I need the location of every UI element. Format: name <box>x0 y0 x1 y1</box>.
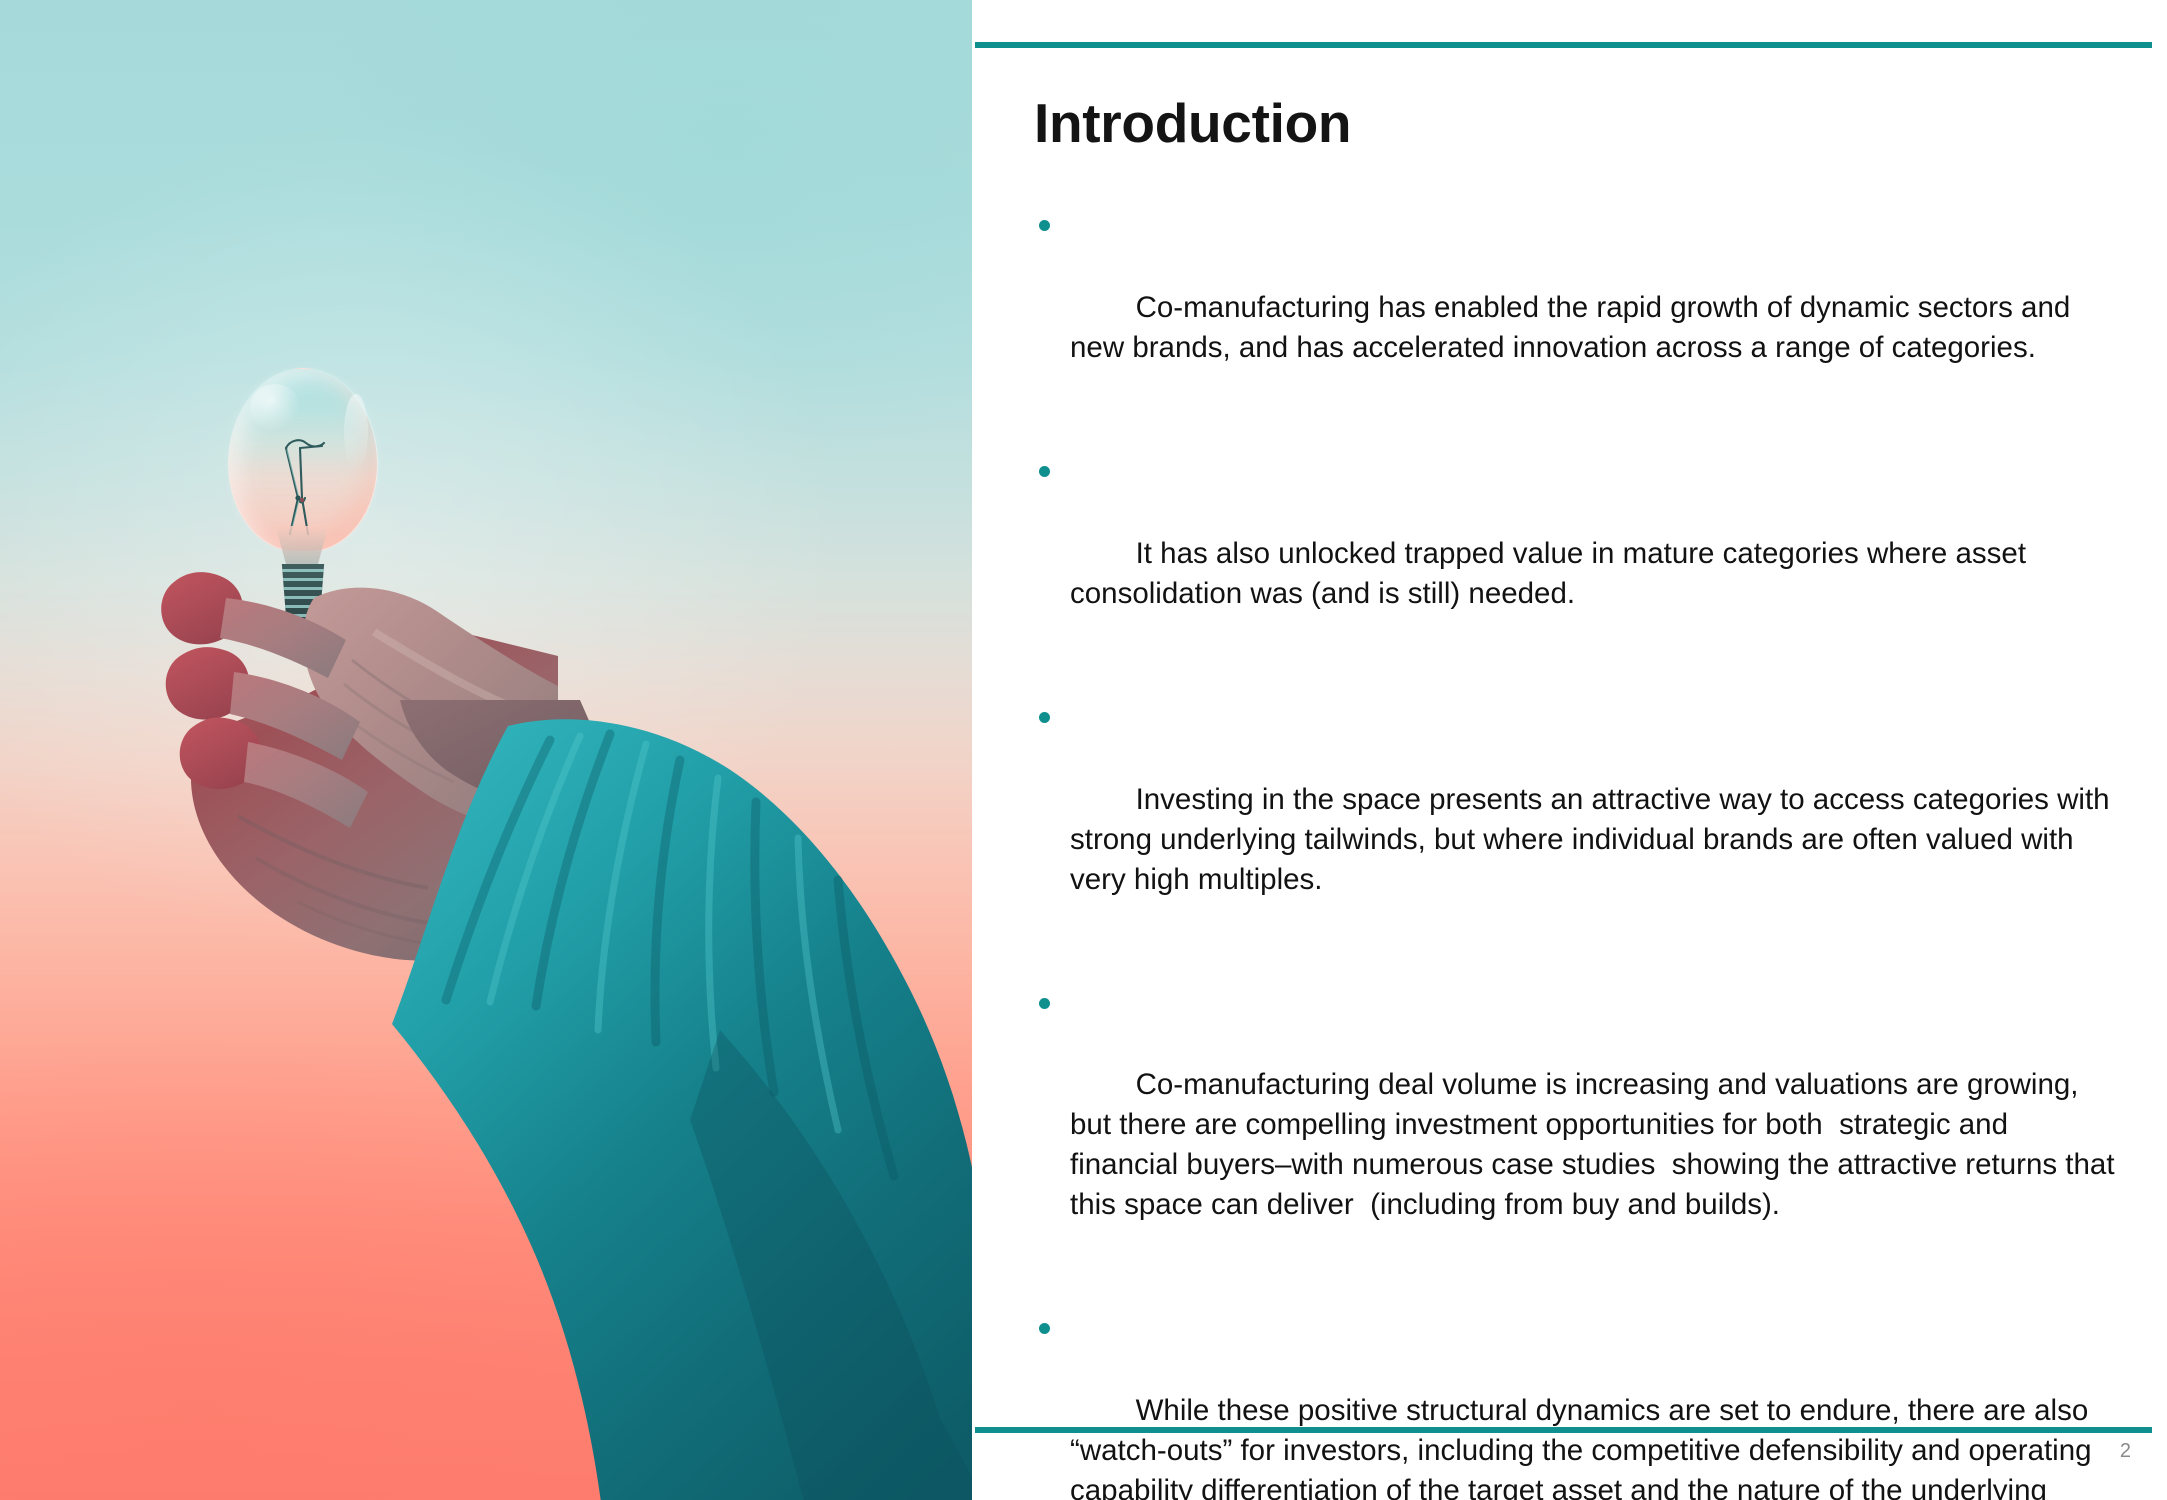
list-item-text: Co-manufacturing has enabled the rapid g… <box>1070 291 2078 364</box>
hero-photo <box>0 0 972 1500</box>
bullet-dot-icon <box>1039 712 1050 723</box>
list-item: Co-manufacturing has enabled the rapid g… <box>1034 208 2124 408</box>
list-item: It has also unlocked trapped value in ma… <box>1034 454 2124 654</box>
list-item-text: Co-manufacturing deal volume is increasi… <box>1070 1068 2123 1221</box>
bullet-dot-icon <box>1039 466 1050 477</box>
bullet-dot-icon <box>1039 220 1050 231</box>
bullet-list: Co-manufacturing has enabled the rapid g… <box>1034 208 2124 1500</box>
teal-sleeve-arm <box>250 700 972 1500</box>
bullet-dot-icon <box>1039 1323 1050 1334</box>
list-item: While these positive structural dynamics… <box>1034 1311 2124 1500</box>
list-item: Co-manufacturing deal volume is increasi… <box>1034 986 2124 1266</box>
page-number: 2 <box>2120 1440 2131 1463</box>
top-accent-rule <box>975 42 2152 48</box>
bullet-dot-icon <box>1039 998 1050 1009</box>
list-item-text: While these positive structural dynamics… <box>1070 1394 2100 1500</box>
page-title: Introduction <box>1034 96 1351 151</box>
list-item-text: It has also unlocked trapped value in ma… <box>1070 537 2034 610</box>
slide-content-area: Introduction Co-manufacturing has enable… <box>972 0 2167 1500</box>
list-item: Investing in the space presents an attra… <box>1034 700 2124 940</box>
list-item-text: Investing in the space presents an attra… <box>1070 783 2118 896</box>
bottom-accent-rule <box>975 1427 2152 1433</box>
slide-canvas: Introduction Co-manufacturing has enable… <box>0 0 2167 1500</box>
